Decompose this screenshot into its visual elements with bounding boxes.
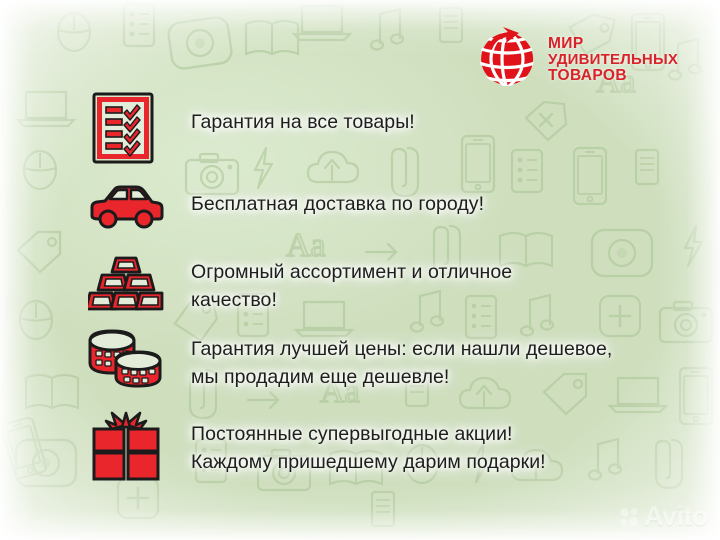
- logo-line-1: МИР: [548, 36, 678, 52]
- gold-bars-stack-icon: [88, 254, 164, 314]
- car-icon: [88, 182, 164, 230]
- checklist-clipboard-icon: [92, 92, 154, 164]
- feature-text-warranty: Гарантия на все товары!: [191, 108, 611, 136]
- brand-logo: МИР УДИВИТЕЛЬНЫХ ТОВАРОВ: [474, 26, 678, 92]
- feature-text-delivery: Бесплатная доставка по городу!: [191, 190, 621, 218]
- avito-wordmark: Avito: [644, 501, 708, 532]
- gift-box-icon: [90, 409, 162, 481]
- feature-text-assortment: Огромный ассортимент и отличное качество…: [191, 258, 591, 314]
- red-globe-arrow-icon: [474, 26, 540, 92]
- brand-logo-text: МИР УДИВИТЕЛЬНЫХ ТОВАРОВ: [548, 34, 678, 84]
- promo-poster: Aa: [0, 0, 720, 540]
- avito-watermark: Avito: [619, 501, 708, 532]
- coin-stacks-icon: [86, 327, 166, 389]
- logo-line-2: УДИВИТЕЛЬНЫХ: [548, 52, 678, 68]
- feature-text-promotions: Постоянные супервыгодные акции! Каждому …: [191, 420, 621, 476]
- logo-line-3: ТОВАРОВ: [548, 68, 678, 84]
- avito-dots-icon: [619, 507, 639, 527]
- feature-text-best-price: Гарантия лучшей цены: если нашли дешевое…: [191, 335, 621, 391]
